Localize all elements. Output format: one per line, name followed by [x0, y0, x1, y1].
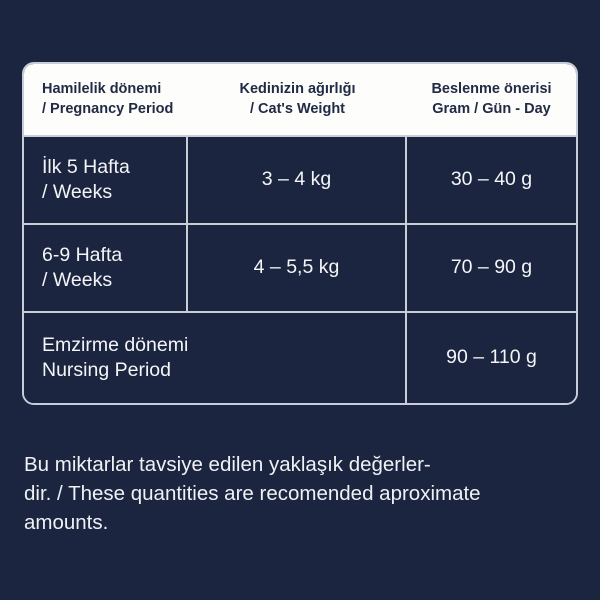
cell-amount: 70 – 90 g [407, 225, 576, 311]
cell-weight: 3 – 4 kg [188, 137, 407, 223]
cell-amount: 90 – 110 g [407, 313, 576, 403]
column-header-feeding-amount: Beslenme önerisi Gram / Gün - Day [407, 64, 576, 135]
column-header-cat-weight: Kedinizin ağırlığı / Cat's Weight [188, 64, 407, 135]
table-body: İlk 5 Hafta / Weeks 3 – 4 kg 30 – 40 g 6… [24, 135, 576, 403]
cell-period: Emzirme dönemi Nursing Period [24, 313, 407, 403]
cell-amount: 30 – 40 g [407, 137, 576, 223]
table-header-row: Hamilelik dönemi / Pregnancy Period Kedi… [24, 64, 576, 135]
table-row: İlk 5 Hafta / Weeks 3 – 4 kg 30 – 40 g [24, 135, 576, 223]
feeding-guide-panel: Hamilelik dönemi / Pregnancy Period Kedi… [0, 0, 600, 600]
cell-period: İlk 5 Hafta / Weeks [24, 137, 188, 223]
table-row: Emzirme dönemi Nursing Period 90 – 110 g [24, 311, 576, 403]
disclaimer-text: Bu miktarlar tavsiye edilen yaklaşık değ… [24, 450, 580, 537]
cell-period: 6-9 Hafta / Weeks [24, 225, 188, 311]
feeding-table: Hamilelik dönemi / Pregnancy Period Kedi… [22, 62, 578, 405]
table-row: 6-9 Hafta / Weeks 4 – 5,5 kg 70 – 90 g [24, 223, 576, 311]
cell-weight: 4 – 5,5 kg [188, 225, 407, 311]
column-header-pregnancy-period: Hamilelik dönemi / Pregnancy Period [24, 64, 188, 135]
